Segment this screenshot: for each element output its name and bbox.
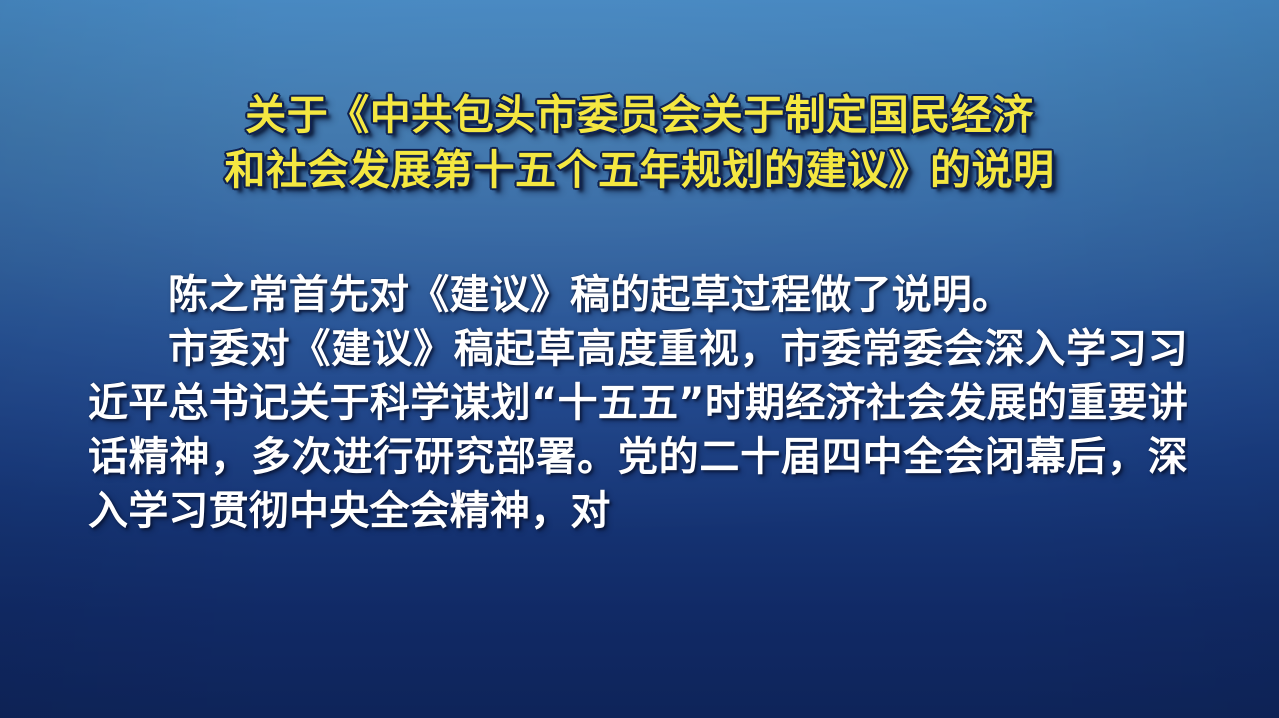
page-title-line-1: 关于《中共包头市委员会关于制定国民经济 (0, 88, 1279, 143)
body-copy: 陈之常首先对《建议》稿的起草过程做了说明。 市委对《建议》稿起草高度重视，市委常… (88, 268, 1188, 538)
body-paragraph-2: 市委对《建议》稿起草高度重视，市委常委会深入学习习近平总书记关于科学谋划“十五五… (88, 322, 1188, 538)
page-title-line-2: 和社会发展第十五个五年规划的建议》的说明 (0, 143, 1279, 198)
body-paragraph-1: 陈之常首先对《建议》稿的起草过程做了说明。 (88, 268, 1188, 322)
page-title: 关于《中共包头市委员会关于制定国民经济 和社会发展第十五个五年规划的建议》的说明 (0, 88, 1279, 198)
broadcast-slate: 关于《中共包头市委员会关于制定国民经济 和社会发展第十五个五年规划的建议》的说明… (0, 0, 1279, 718)
